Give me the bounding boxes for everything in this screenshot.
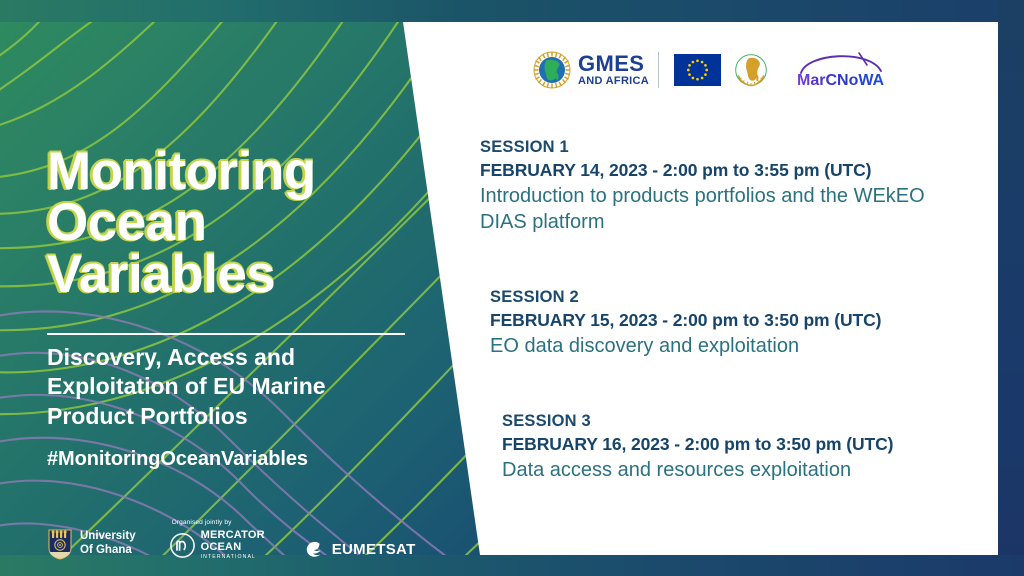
session-datetime: FEBRUARY 14, 2023 - 2:00 pm to 3:55 pm (… <box>480 159 950 182</box>
session-description: Data access and resources exploitation <box>502 457 972 483</box>
session-item: SESSION 1 FEBRUARY 14, 2023 - 2:00 pm to… <box>480 136 950 235</box>
session-item: SESSION 3 FEBRUARY 16, 2023 - 2:00 pm to… <box>502 410 972 483</box>
session-item: SESSION 2 FEBRUARY 15, 2023 - 2:00 pm to… <box>490 286 960 359</box>
session-number: SESSION 1 <box>480 136 950 159</box>
session-datetime: FEBRUARY 15, 2023 - 2:00 pm to 3:50 pm (… <box>490 309 960 332</box>
session-number: SESSION 3 <box>502 410 972 433</box>
slide-canvas: Monitoring Ocean Variables Discovery, Ac… <box>0 0 1024 576</box>
session-description: Introduction to products portfolios and … <box>480 183 950 236</box>
session-description: EO data discovery and exploitation <box>490 333 960 359</box>
sessions-list: SESSION 1 FEBRUARY 14, 2023 - 2:00 pm to… <box>0 0 1024 576</box>
session-datetime: FEBRUARY 16, 2023 - 2:00 pm to 3:50 pm (… <box>502 433 972 456</box>
session-number: SESSION 2 <box>490 286 960 309</box>
